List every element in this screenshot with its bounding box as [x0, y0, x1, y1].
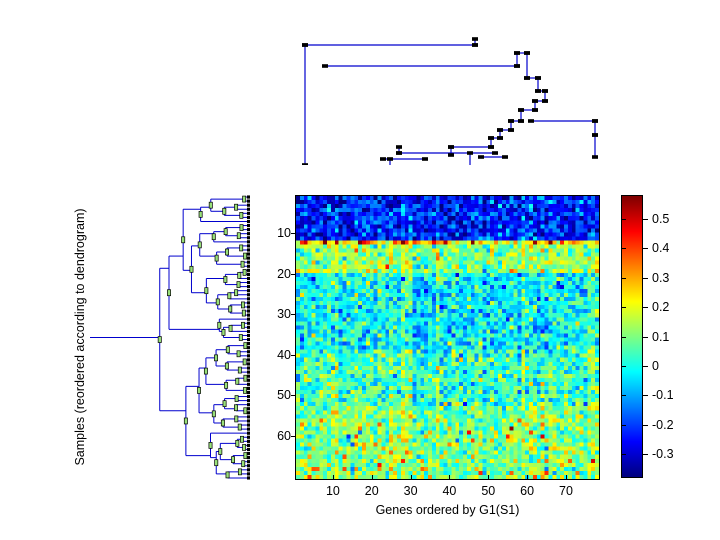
dendrogram-leaf-marker	[247, 358, 250, 361]
dendrogram-node-marker	[224, 382, 227, 388]
dendrogram-node-marker	[198, 242, 201, 248]
x-axis-tickmark	[449, 475, 450, 480]
dendrogram-node-marker	[244, 253, 247, 259]
dendrogram-node-marker	[242, 461, 245, 467]
dendrogram-leaf-marker	[247, 383, 250, 386]
dendrogram-node-marker	[472, 37, 478, 41]
colorbar-tickmark	[643, 454, 648, 455]
colorbar-tick-label: 0.5	[652, 212, 669, 226]
dendrogram-node-marker	[532, 108, 538, 112]
dendrogram-node-marker	[209, 442, 212, 448]
dendrogram-node-marker	[524, 76, 530, 80]
top-dendrogram	[295, 35, 600, 165]
dendrogram-node-marker	[244, 453, 247, 459]
dendrogram-leaf-marker	[247, 216, 250, 219]
y-axis-tickmark	[291, 233, 296, 234]
dendrogram-node-marker	[240, 436, 243, 442]
dendrogram-node-marker	[239, 335, 242, 341]
colorbar-tickmark-left	[621, 366, 626, 367]
colorbar-tickmark-left	[621, 307, 626, 308]
dendrogram-node-marker	[215, 255, 218, 261]
dendrogram-node-marker	[236, 440, 239, 446]
dendrogram-node-marker	[497, 136, 503, 140]
dendrogram-node-marker	[535, 76, 541, 80]
dendrogram-node-marker	[302, 163, 308, 165]
dendrogram-node-marker	[240, 245, 243, 251]
dendrogram-node-marker	[524, 51, 530, 55]
dendrogram-node-marker	[235, 416, 238, 422]
dendrogram-leaf-marker	[247, 212, 250, 215]
dendrogram-leaf-marker	[247, 350, 250, 353]
dendrogram-leaf-marker	[247, 468, 250, 471]
dendrogram-node-marker	[502, 155, 508, 159]
x-axis-tickmark	[566, 475, 567, 480]
dendrogram-leaf-marker	[247, 346, 250, 349]
dendrogram-node-marker	[508, 128, 514, 132]
dendrogram-node-marker	[224, 229, 227, 235]
dendrogram-leaf-marker	[247, 428, 250, 431]
dendrogram-node-marker	[514, 64, 520, 68]
dendrogram-node-marker	[497, 128, 503, 132]
colorbar-tickmark-left	[621, 425, 626, 426]
dendrogram-node-marker	[215, 460, 218, 466]
dendrogram-leaf-marker	[247, 293, 250, 296]
dendrogram-leaf-marker	[247, 403, 250, 406]
dendrogram-node-marker	[542, 99, 548, 103]
colorbar-tickmark-left	[621, 278, 626, 279]
dendrogram-leaf-marker	[247, 228, 250, 231]
dendrogram-leaf-marker	[247, 379, 250, 382]
colorbar-ticks: 0.50.40.30.20.10-0.1-0.2-0.3	[643, 195, 703, 478]
dendrogram-node-marker	[532, 99, 538, 103]
colorbar-tick-label: 0.2	[652, 300, 669, 314]
dendrogram-node-marker	[240, 225, 243, 231]
dendrogram-node-marker	[235, 396, 238, 402]
dendrogram-node-marker	[478, 155, 484, 159]
dendrogram-node-marker	[448, 153, 454, 157]
y-axis-tick-label: 30	[277, 307, 291, 321]
dendrogram-node-marker	[238, 272, 241, 278]
dendrogram-leaf-marker	[247, 289, 250, 292]
dendrogram-node-marker	[223, 208, 226, 214]
top-dendrogram-nodes	[302, 37, 598, 165]
dendrogram-node-marker	[223, 401, 226, 407]
dendrogram-node-marker	[422, 157, 428, 161]
dendrogram-leaf-marker	[247, 464, 250, 467]
dendrogram-node-marker	[221, 420, 224, 426]
colorbar-tickmark	[643, 366, 648, 367]
dendrogram-node-marker	[396, 151, 402, 155]
dendrogram-node-marker	[212, 234, 215, 240]
dendrogram-node-marker	[190, 266, 193, 272]
dendrogram-node-marker	[472, 43, 478, 47]
y-axis-tick-label: 20	[277, 267, 291, 281]
dendrogram-node-marker	[199, 211, 202, 217]
y-axis-tick-label: 10	[277, 226, 291, 240]
colorbar-tickmark-left	[621, 219, 626, 220]
dendrogram-node-marker	[238, 424, 241, 430]
dendrogram-node-marker	[528, 119, 534, 123]
dendrogram-node-marker	[535, 89, 541, 93]
dendrogram-node-marker	[488, 145, 494, 149]
y-axis-tickmark	[291, 395, 296, 396]
dendrogram-leaf-marker	[247, 273, 250, 276]
dendrogram-node-marker	[222, 329, 225, 335]
dendrogram-leaf-marker	[247, 423, 250, 426]
dendrogram-node-marker	[224, 276, 227, 282]
dendrogram-node-marker	[229, 306, 232, 312]
dendrogram-node-marker	[240, 212, 243, 218]
dendrogram-node-marker	[592, 155, 598, 159]
x-axis-label: Genes ordered by G1(S1)	[295, 503, 600, 517]
dendrogram-leaf-marker	[247, 436, 250, 439]
dendrogram-node-marker	[380, 157, 386, 161]
dendrogram-leaf-marker	[247, 208, 250, 211]
colorbar-tickmark-left	[621, 454, 626, 455]
colorbar-tickmark	[643, 219, 648, 220]
dendrogram-node-marker	[237, 233, 240, 239]
colorbar-tick-label: 0.3	[652, 271, 669, 285]
x-axis-tickmark	[488, 475, 489, 480]
dendrogram-node-marker	[244, 343, 247, 349]
dendrogram-node-marker	[542, 89, 548, 93]
x-axis-tickmark	[372, 475, 373, 480]
dendrogram-leaf-marker	[247, 411, 250, 414]
y-axis-tickmark	[291, 355, 296, 356]
dendrogram-node-marker	[237, 351, 240, 357]
dendrogram-node-marker	[492, 151, 498, 155]
dendrogram-leaf-marker	[247, 444, 250, 447]
dendrogram-node-marker	[244, 375, 247, 381]
dendrogram-node-marker	[229, 325, 232, 331]
dendrogram-node-marker	[322, 64, 328, 68]
dendrogram-leaf-marker	[247, 257, 250, 260]
dendrogram-leaf-marker	[247, 252, 250, 255]
dendrogram-leaf-marker	[247, 334, 250, 337]
dendrogram-node-marker	[592, 133, 598, 137]
colorbar-tickmark	[643, 337, 648, 338]
dendrogram-leaf-marker	[247, 338, 250, 341]
dendrogram-leaf-marker	[247, 232, 250, 235]
dendrogram-leaf-marker	[247, 224, 250, 227]
dendrogram-node-marker	[231, 457, 234, 463]
matlab-figure: 102030405060 10203040506070 Genes ordere…	[0, 0, 720, 540]
colorbar-tickmark-left	[621, 248, 626, 249]
dendrogram-leaf-marker	[247, 440, 250, 443]
colorbar-tickmark	[643, 278, 648, 279]
dendrogram-leaf-marker	[247, 322, 250, 325]
dendrogram-node-marker	[396, 145, 402, 149]
dendrogram-leaf-marker	[247, 195, 250, 198]
x-axis-tickmark	[527, 475, 528, 480]
x-axis-tick-label: 10	[326, 484, 340, 498]
dendrogram-node-marker	[226, 472, 229, 478]
colorbar-tickmark	[643, 307, 648, 308]
dendrogram-leaf-marker	[247, 330, 250, 333]
dendrogram-leaf-marker	[247, 391, 250, 394]
x-axis-ticks: 10203040506070	[295, 482, 600, 502]
x-axis-tick-label: 40	[442, 484, 456, 498]
x-axis-tickmark	[411, 475, 412, 480]
dendrogram-node-marker	[243, 444, 246, 450]
colorbar-tick-label: 0	[652, 359, 659, 373]
dendrogram-node-marker	[234, 204, 237, 210]
dendrogram-leaf-marker	[247, 244, 250, 247]
dendrogram-leaf-marker	[247, 415, 250, 418]
dendrogram-leaf-marker	[247, 354, 250, 357]
dendrogram-node-marker	[234, 405, 237, 411]
dendrogram-node-marker	[238, 469, 241, 475]
dendrogram-node-marker	[241, 261, 244, 267]
dendrogram-node-marker	[448, 145, 454, 149]
colorbar-tickmark-left	[621, 395, 626, 396]
dendrogram-leaf-marker	[247, 432, 250, 435]
left-dendrogram	[88, 195, 250, 480]
dendrogram-leaf-marker	[247, 472, 250, 475]
dendrogram-node-marker	[216, 299, 219, 305]
colorbar-tick-label: 0.1	[652, 330, 669, 344]
colorbar-tick-label: -0.2	[652, 418, 674, 432]
y-axis-tickmark	[291, 314, 296, 315]
x-axis-tick-label: 20	[365, 484, 379, 498]
dendrogram-leaf-marker	[247, 240, 250, 243]
dendrogram-node-marker	[214, 355, 217, 361]
dendrogram-node-marker	[387, 157, 393, 161]
dendrogram-node-marker	[197, 387, 200, 393]
y-axis-tick-label: 40	[277, 348, 291, 362]
heatmap-image[interactable]	[296, 196, 599, 479]
dendrogram-leaf-marker	[247, 265, 250, 268]
colorbar-tickmark	[643, 248, 648, 249]
dendrogram-node-marker	[236, 378, 239, 384]
dendrogram-node-marker	[514, 51, 520, 55]
colorbar-tick-label: 0.4	[652, 241, 669, 255]
dendrogram-node-marker	[158, 337, 161, 343]
dendrogram-leaf-marker	[247, 371, 250, 374]
dendrogram-leaf-marker	[247, 452, 250, 455]
dendrogram-leaf-marker	[247, 281, 250, 284]
dendrogram-leaf-marker	[247, 285, 250, 288]
dendrogram-node-marker	[243, 269, 246, 275]
dendrogram-leaf-marker	[247, 419, 250, 422]
dendrogram-node-marker	[184, 418, 187, 424]
dendrogram-leaf-marker	[247, 387, 250, 390]
dendrogram-leaf-marker	[247, 297, 250, 300]
dendrogram-leaf-marker	[247, 476, 250, 479]
dendrogram-node-marker	[241, 302, 244, 308]
dendrogram-leaf-marker	[247, 342, 250, 345]
dendrogram-leaf-marker	[247, 301, 250, 304]
dendrogram-node-marker	[182, 237, 185, 243]
dendrogram-node-marker	[243, 387, 246, 393]
dendrogram-node-marker	[243, 196, 246, 202]
dendrogram-leaf-marker	[247, 460, 250, 463]
dendrogram-node-marker	[235, 290, 238, 296]
dendrogram-node-marker	[219, 449, 222, 455]
dendrogram-leaf-marker	[247, 395, 250, 398]
dendrogram-leaf-marker	[247, 248, 250, 251]
y-axis-ticks: 102030405060	[255, 195, 291, 480]
dendrogram-leaf-marker	[247, 261, 250, 264]
dendrogram-node-marker	[518, 119, 524, 123]
dendrogram-node-marker	[238, 367, 241, 373]
dendrogram-node-marker	[204, 368, 207, 374]
dendrogram-node-marker	[242, 310, 245, 316]
dendrogram-node-marker	[243, 359, 246, 365]
dendrogram-node-marker	[167, 290, 170, 296]
y-axis-tickmark	[291, 274, 296, 275]
dendrogram-node-marker	[205, 288, 208, 294]
dendrogram-node-marker	[244, 408, 247, 414]
heatmap-panel[interactable]	[295, 195, 600, 480]
left-dendrogram-links	[90, 197, 250, 478]
x-axis-tick-label: 30	[404, 484, 418, 498]
dendrogram-leaf-marker	[247, 305, 250, 308]
dendrogram-node-marker	[508, 119, 514, 123]
y-axis-tickmark	[291, 436, 296, 437]
dendrogram-node-marker	[241, 322, 244, 328]
dendrogram-leaf-marker	[247, 399, 250, 402]
colorbar-tick-label: -0.1	[652, 388, 674, 402]
dendrogram-node-marker	[237, 282, 240, 288]
dendrogram-leaf-marker	[247, 314, 250, 317]
dendrogram-leaf-marker	[247, 269, 250, 272]
dendrogram-leaf-marker	[247, 318, 250, 321]
colorbar-tickmark-left	[621, 337, 626, 338]
dendrogram-node-marker	[225, 249, 228, 255]
dendrogram-node-marker	[467, 151, 473, 155]
y-axis-tick-label: 50	[277, 388, 291, 402]
y-axis-tick-label: 60	[277, 429, 291, 443]
dendrogram-leaf-marker	[247, 375, 250, 378]
dendrogram-node-marker	[592, 119, 598, 123]
y-axis-label: Samples (reordered according to dendrogr…	[73, 177, 87, 497]
x-axis-tickmark	[333, 475, 334, 480]
dendrogram-node-marker	[209, 202, 212, 208]
dendrogram-leaf-marker	[247, 200, 250, 203]
dendrogram-leaf-marker	[247, 326, 250, 329]
dendrogram-node-marker	[518, 108, 524, 112]
x-axis-tick-label: 70	[559, 484, 573, 498]
dendrogram-node-marker	[228, 293, 231, 299]
x-axis-tick-label: 50	[481, 484, 495, 498]
colorbar-tickmark	[643, 425, 648, 426]
dendrogram-leaf-marker	[247, 407, 250, 410]
dendrogram-node-marker	[488, 136, 494, 140]
dendrogram-node-marker	[226, 347, 229, 353]
dendrogram-leaf-marker	[247, 309, 250, 312]
dendrogram-leaf-marker	[247, 366, 250, 369]
x-axis-tick-label: 60	[520, 484, 534, 498]
dendrogram-leaf-marker	[247, 448, 250, 451]
colorbar-tick-label: -0.3	[652, 447, 674, 461]
dendrogram-leaf-marker	[247, 362, 250, 365]
dendrogram-leaf-marker	[247, 204, 250, 207]
dendrogram-leaf-marker	[247, 277, 250, 280]
dendrogram-node-marker	[212, 411, 215, 417]
dendrogram-node-marker	[302, 43, 308, 47]
dendrogram-leaf-marker	[247, 236, 250, 239]
dendrogram-node-marker	[218, 322, 221, 328]
dendrogram-leaf-marker	[247, 220, 250, 223]
dendrogram-leaf-marker	[247, 456, 250, 459]
dendrogram-node-marker	[225, 363, 228, 369]
colorbar-tickmark	[643, 395, 648, 396]
